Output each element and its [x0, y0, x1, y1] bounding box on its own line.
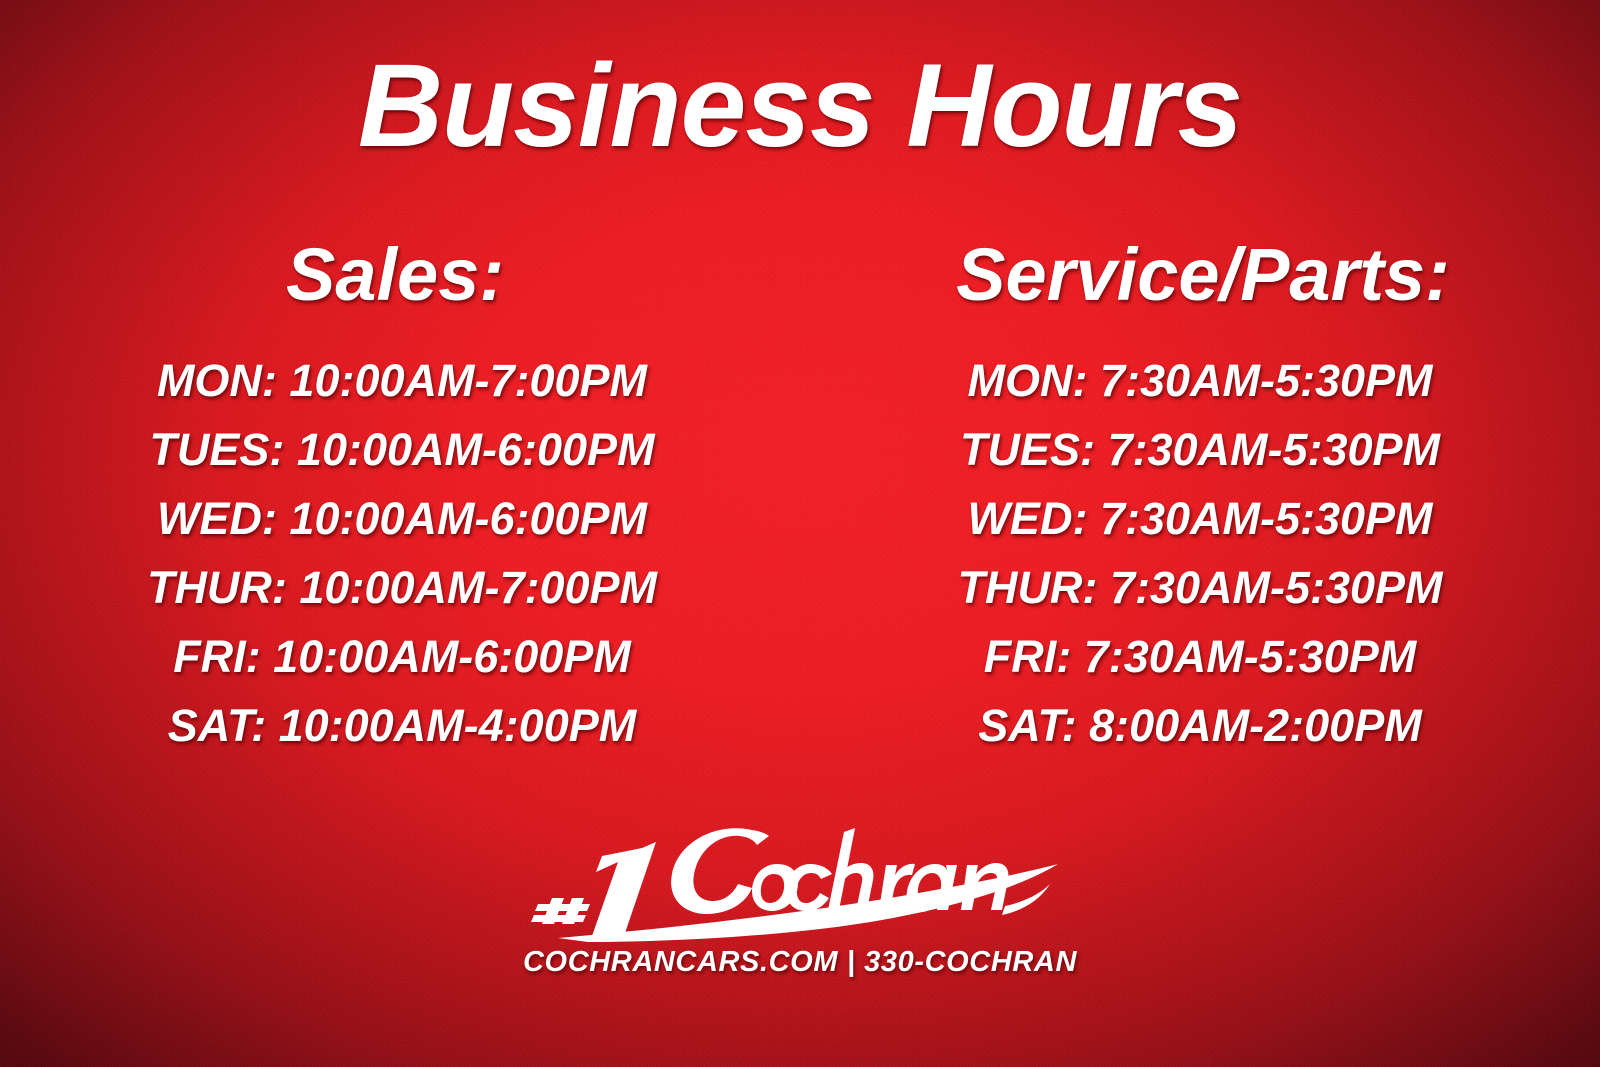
hours-row: THUR: 10:00AM-7:00PM	[0, 553, 800, 622]
hours-list-service-parts: MON: 7:30AM-5:30PM TUES: 7:30AM-5:30PM W…	[800, 346, 1600, 760]
logo-tagline: COCHRANCARS.COM | 330-COCHRAN	[0, 946, 1600, 979]
hours-row: THUR: 7:30AM-5:30PM	[800, 553, 1600, 622]
hours-row: FRI: 7:30AM-5:30PM	[800, 622, 1600, 691]
hours-column-sales: Sales: MON: 10:00AM-7:00PM TUES: 10:00AM…	[0, 238, 800, 760]
hours-row: MON: 10:00AM-7:00PM	[0, 346, 800, 415]
hours-row: SAT: 8:00AM-2:00PM	[800, 691, 1600, 760]
column-heading-service-parts: Service/Parts:	[800, 238, 1600, 312]
hours-list-sales: MON: 10:00AM-7:00PM TUES: 10:00AM-6:00PM…	[0, 346, 800, 760]
hours-columns: Sales: MON: 10:00AM-7:00PM TUES: 10:00AM…	[0, 238, 1600, 760]
hours-row: MON: 7:30AM-5:30PM	[800, 346, 1600, 415]
column-heading-sales: Sales:	[0, 238, 800, 312]
hours-row: TUES: 7:30AM-5:30PM	[800, 415, 1600, 484]
business-hours-poster: Business Hours Sales: MON: 10:00AM-7:00P…	[0, 0, 1600, 1067]
hours-row: TUES: 10:00AM-6:00PM	[0, 415, 800, 484]
hours-column-service-parts: Service/Parts: MON: 7:30AM-5:30PM TUES: …	[800, 238, 1600, 760]
cochran-logo-icon	[530, 812, 1070, 942]
page-title: Business Hours	[0, 44, 1600, 169]
hours-row: WED: 10:00AM-6:00PM	[0, 484, 800, 553]
hours-row: FRI: 10:00AM-6:00PM	[0, 622, 800, 691]
hours-row: WED: 7:30AM-5:30PM	[800, 484, 1600, 553]
brand-logo: COCHRANCARS.COM | 330-COCHRAN	[0, 812, 1600, 979]
hours-row: SAT: 10:00AM-4:00PM	[0, 691, 800, 760]
